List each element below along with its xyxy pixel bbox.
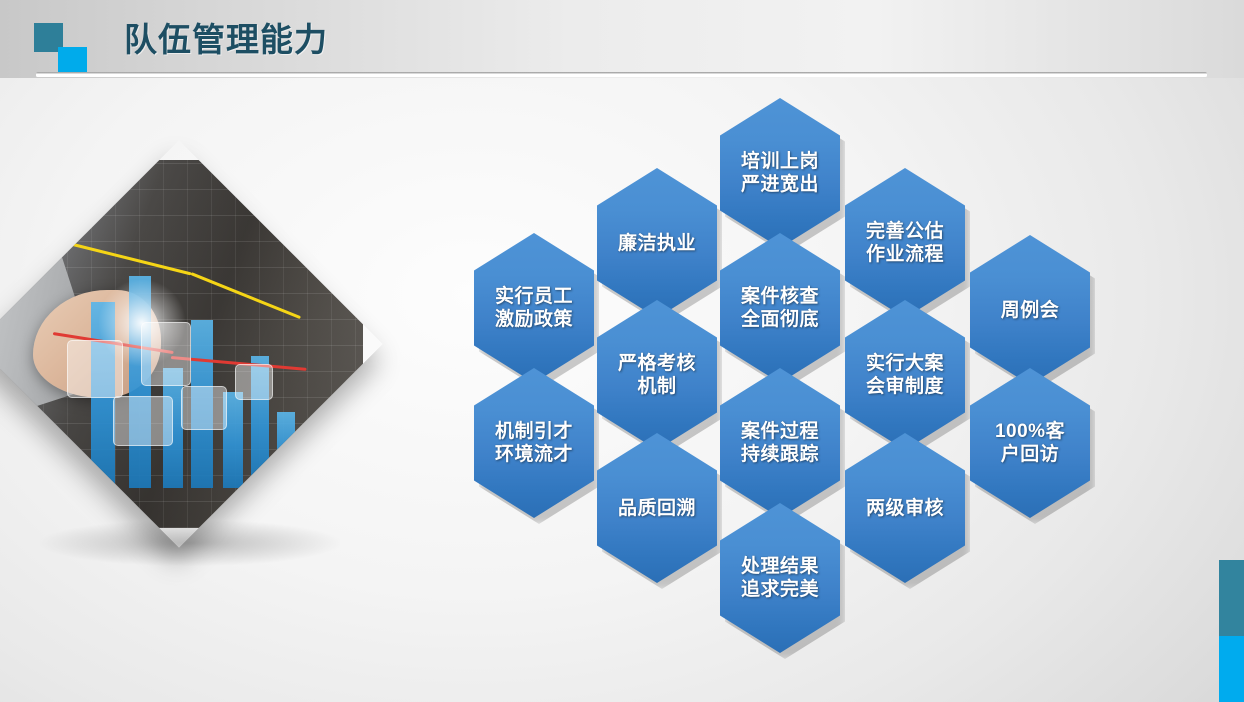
hex-label: 严格考核 机制 xyxy=(614,352,700,398)
accent-bar-blue xyxy=(1219,636,1244,702)
hex-label: 机制引才 环境流才 xyxy=(491,420,577,466)
hex-label: 处理结果 追求完美 xyxy=(737,555,823,601)
accent-bar-teal xyxy=(1219,560,1244,636)
hex-label: 两级审核 xyxy=(862,497,948,520)
hex-label: 100%客 户回访 xyxy=(991,420,1069,466)
hex-label: 完善公估 作业流程 xyxy=(862,220,948,266)
hex-label: 培训上岗 严进宽出 xyxy=(737,150,823,196)
hex-label: 案件过程 持续跟踪 xyxy=(737,420,823,466)
hex-label: 实行员工 激励政策 xyxy=(491,285,577,331)
hex-label: 实行大案 会审制度 xyxy=(862,352,948,398)
slide-canvas: 队伍管理能力 xyxy=(0,0,1244,702)
hex-label: 廉洁执业 xyxy=(614,232,700,255)
hex-label: 案件核查 全面彻底 xyxy=(737,285,823,331)
hex-label: 周例会 xyxy=(997,299,1064,322)
hexagon-diagram: 实行员工 激励政策 机制引才 环境流才 廉洁执业 严格考核 机制 品质回溯 培训… xyxy=(0,0,1244,702)
hex-label: 品质回溯 xyxy=(614,497,700,520)
